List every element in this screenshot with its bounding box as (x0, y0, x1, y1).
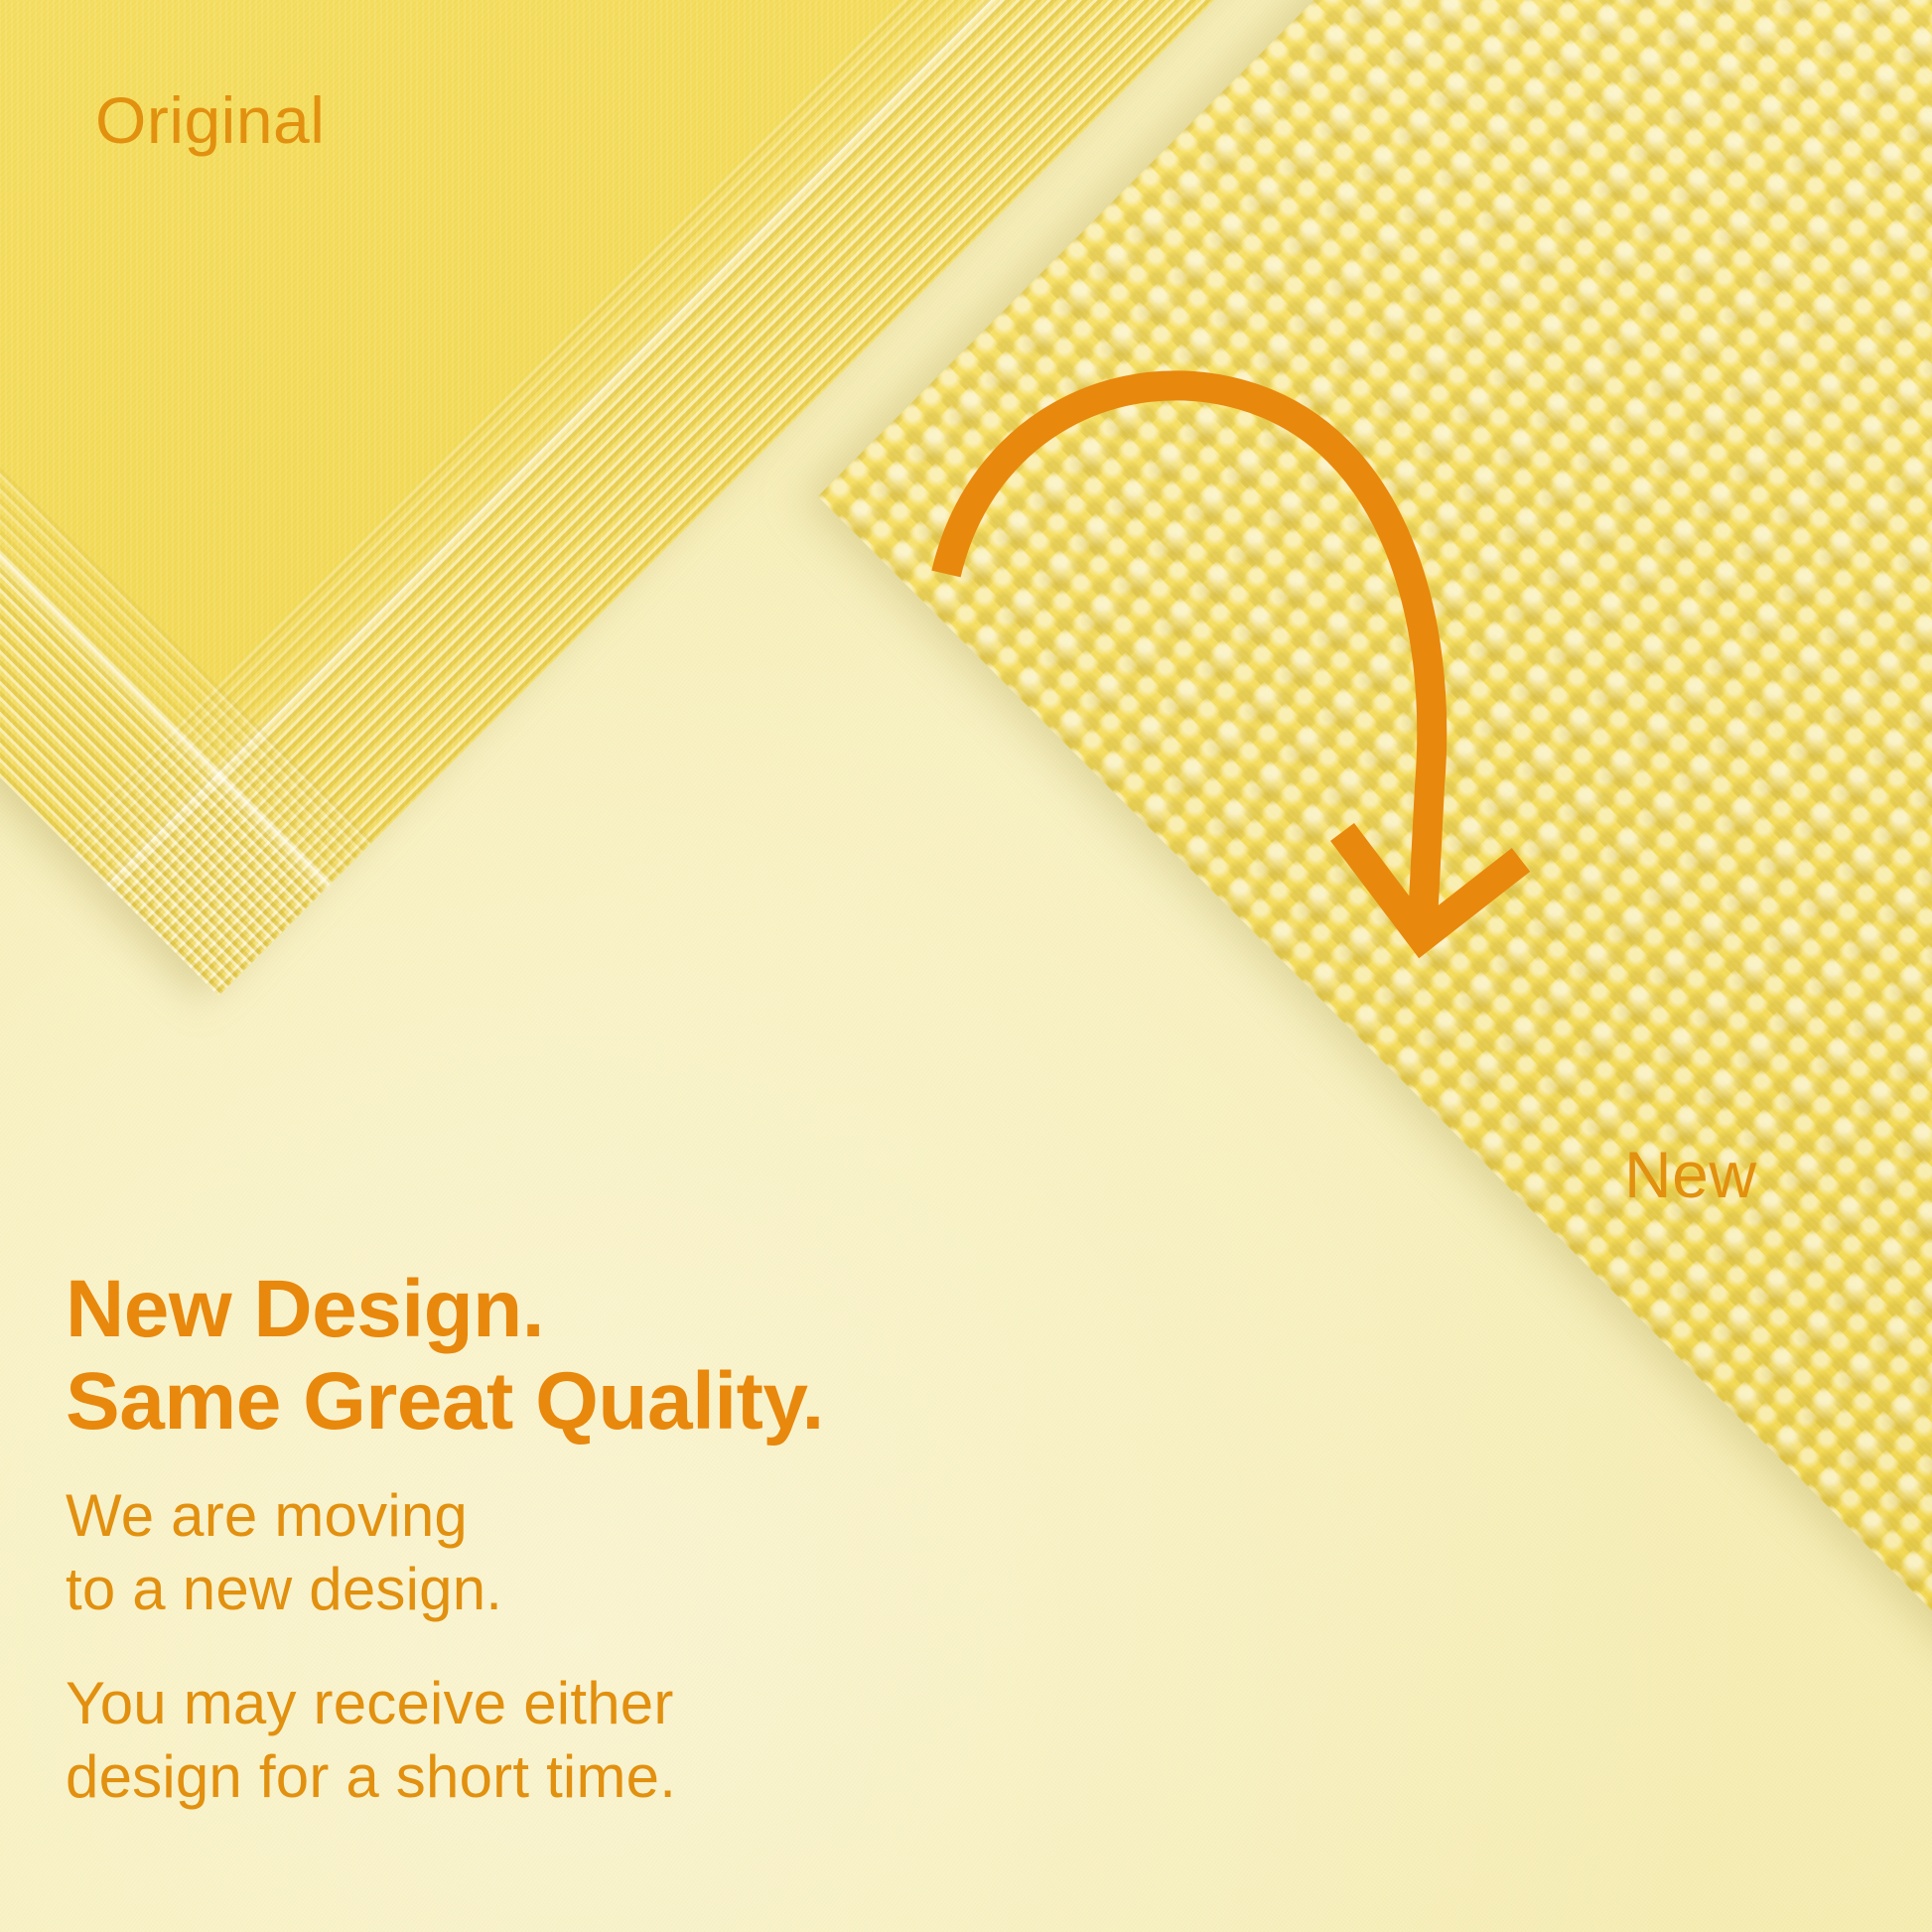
original-label: Original (95, 87, 325, 153)
body-copy: We are moving to a new design. You may r… (66, 1479, 939, 1815)
body-paragraph-2-line-2: design for a short time. (66, 1740, 939, 1814)
promo-image-canvas: Original New New Design. Same Great Qual… (0, 0, 1932, 1932)
headline-line-1: New Design. (66, 1263, 959, 1355)
body-paragraph-1: We are moving to a new design. (66, 1479, 939, 1627)
headline: New Design. Same Great Quality. (66, 1263, 959, 1449)
headline-line-2: Same Great Quality. (66, 1355, 959, 1448)
body-paragraph-2-line-1: You may receive either (66, 1667, 939, 1740)
body-paragraph-2: You may receive either design for a shor… (66, 1667, 939, 1815)
new-label: New (1624, 1142, 1757, 1207)
body-paragraph-1-line-2: to a new design. (66, 1553, 939, 1626)
body-paragraph-1-line-1: We are moving (66, 1479, 939, 1553)
